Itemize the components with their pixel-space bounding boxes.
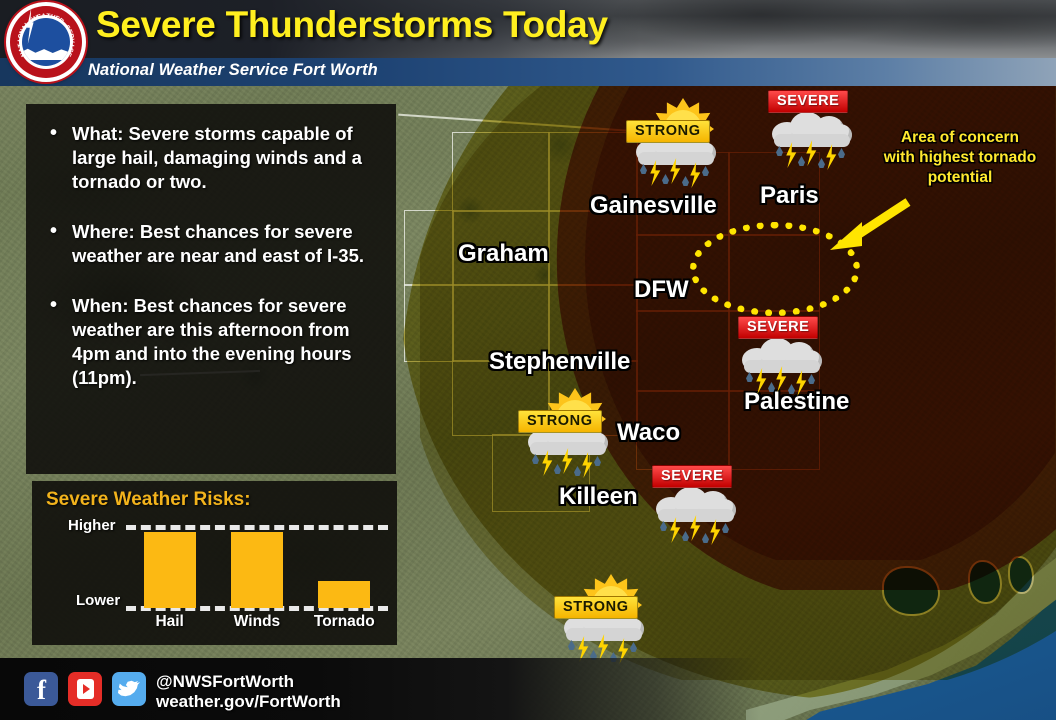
rain-drop-icon <box>722 523 729 533</box>
lightning-bolt-icon <box>688 162 702 188</box>
chart-xtick-winds: Winds <box>234 613 280 631</box>
youtube-icon[interactable] <box>68 672 102 706</box>
storm-icon-waco: STRONG <box>522 398 614 476</box>
rain-drop-icon <box>640 164 647 174</box>
rain-drop-icon <box>660 521 667 531</box>
rain-drop-icon <box>838 148 845 158</box>
storm-badge-strong: STRONG <box>518 410 602 433</box>
storm-badge-severe: SEVERE <box>652 465 732 488</box>
info-bullet-when: When: Best chances for severe weather ar… <box>42 294 378 390</box>
storm-badge-strong: STRONG <box>554 596 638 619</box>
chart-bar-group-hail: Hail <box>126 525 213 608</box>
rain-drop-icon <box>682 531 689 541</box>
social-handle: @NWSFortWorth <box>156 672 294 692</box>
weather-graphic: Gainesville Paris Graham DFW Stephenvill… <box>0 0 1056 720</box>
rain-drop-icon <box>702 166 709 176</box>
nws-seal-logo: NATIONAL WEATHER SERVICE <box>6 2 86 82</box>
storm-icon-south: STRONG <box>558 584 650 662</box>
info-bullet-where: Where: Best chances for severe weather a… <box>42 220 378 268</box>
storm-badge-severe: SEVERE <box>768 90 848 113</box>
office-name: National Weather Service Fort Worth <box>88 61 378 80</box>
website-url: weather.gov/FortWorth <box>156 692 341 712</box>
facebook-icon[interactable]: f <box>24 672 58 706</box>
city-label-gainesville: Gainesville <box>590 192 717 220</box>
rain-drop-icon <box>574 466 581 476</box>
rain-drop-icon <box>746 372 753 382</box>
city-label-graham: Graham <box>458 240 549 268</box>
annotation-line-1: Area of concern <box>866 128 1054 148</box>
rain-drop-icon <box>532 454 539 464</box>
rain-drop-icon <box>768 382 775 392</box>
city-label-stephenville: Stephenville <box>489 348 630 376</box>
rain-drop-icon <box>568 640 575 650</box>
rain-drop-icon <box>776 146 783 156</box>
city-label-killeen: Killeen <box>559 483 638 511</box>
seal-wave-icon <box>22 46 70 60</box>
storm-icon-gainesville: STRONG <box>630 108 722 186</box>
annotation-arrow-icon <box>826 196 912 254</box>
chart-plot-area: Hail Winds Tornado <box>126 525 388 608</box>
chart-xtick-tornado: Tornado <box>314 613 375 631</box>
lightning-bolt-icon <box>580 452 594 478</box>
rain-drop-icon <box>808 374 815 384</box>
chart-xtick-hail: Hail <box>155 613 183 631</box>
twitter-icon[interactable] <box>112 672 146 706</box>
rain-drop-icon <box>594 456 601 466</box>
storm-icon-paris: SEVERE <box>766 90 858 168</box>
page-title: Severe Thunderstorms Today <box>96 4 608 46</box>
chart-bar-winds <box>231 532 283 608</box>
rain-drop-icon <box>554 464 561 474</box>
storm-icon-palestine: SEVERE <box>736 316 828 394</box>
storm-icon-killeen: SEVERE <box>650 465 742 543</box>
storm-badge-strong: STRONG <box>626 120 710 143</box>
city-label-paris: Paris <box>760 182 819 210</box>
chart-bar-hail <box>144 532 196 608</box>
chart-ytick-lower: Lower <box>76 592 120 609</box>
rain-drop-icon <box>818 158 825 168</box>
lightning-bolt-icon <box>708 519 722 545</box>
rain-drop-icon <box>798 156 805 166</box>
info-bullet-what: What: Severe storms capable of large hai… <box>42 122 378 194</box>
chart-bar-tornado <box>318 581 370 608</box>
chart-ytick-higher: Higher <box>68 517 116 534</box>
rain-drop-icon <box>702 533 709 543</box>
rain-drop-icon <box>630 642 637 652</box>
lightning-bolt-icon <box>794 370 808 396</box>
storm-badge-severe: SEVERE <box>738 316 818 339</box>
rain-drop-icon <box>788 384 795 394</box>
info-bullet-list: What: Severe storms capable of large hai… <box>26 104 396 390</box>
footer-bar: f @NWSFortWorth weather.gov/FortWorth <box>0 658 1056 720</box>
rain-drop-icon <box>682 176 689 186</box>
chart-bar-group-tornado: Tornado <box>301 525 388 608</box>
lightning-bolt-icon <box>824 144 838 170</box>
annotation-line-2: with highest tornado <box>866 148 1054 168</box>
chart-bar-group-winds: Winds <box>213 525 300 608</box>
rain-drop-icon <box>662 174 669 184</box>
annotation-line-3: potential <box>866 168 1054 188</box>
chart-bars: Hail Winds Tornado <box>126 525 388 608</box>
info-text-panel: What: Severe storms capable of large hai… <box>26 104 396 474</box>
city-label-waco: Waco <box>617 419 680 447</box>
area-of-concern-annotation: Area of concern with highest tornado pot… <box>866 128 1054 187</box>
city-label-dfw: DFW <box>634 276 689 304</box>
chart-title: Severe Weather Risks: <box>46 489 251 511</box>
severe-weather-risks-chart: Severe Weather Risks: Higher Lower Hail … <box>32 481 397 645</box>
